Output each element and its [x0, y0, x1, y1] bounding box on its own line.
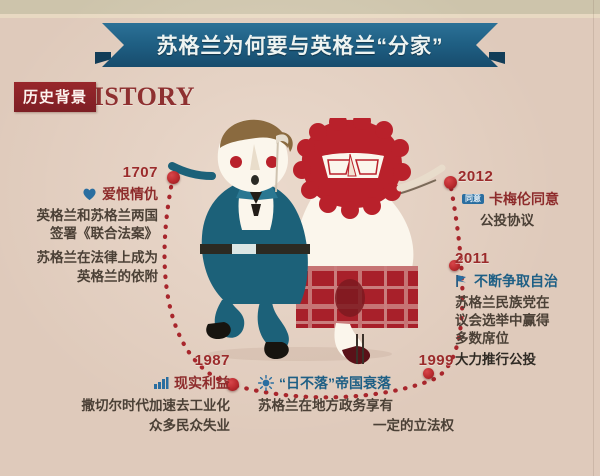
entry-body-line: 公投协议 — [480, 212, 594, 230]
entry-sub-line: 大力推行公投 — [455, 351, 597, 369]
year-label-1707: 1707 — [10, 164, 158, 181]
timeline-entry-1987: 1987 现实利益 撒切尔时代加速去工业化 众多民众失业 — [14, 352, 230, 435]
entry-sub-1999: 一定的立法权 — [258, 417, 454, 435]
year-label-2011: 2011 — [455, 250, 597, 267]
section-badge: 历史背景 — [14, 82, 96, 112]
entry-sub-line: 英格兰的依附 — [10, 268, 158, 286]
entry-body-line: 苏格兰在地方政务享有 — [258, 397, 454, 415]
section-header: 历史背景 — [14, 83, 96, 111]
entry-heading-1987: 现实利益 — [14, 373, 230, 393]
infographic-canvas: 苏格兰为何要与英格兰“分家” HISTORY 历史背景 — [0, 0, 600, 476]
timeline-node-1707[interactable] — [167, 171, 180, 184]
timeline-node-2012[interactable] — [444, 176, 457, 189]
year-label-1999: 1999 — [258, 352, 454, 369]
factory-icon — [153, 376, 169, 390]
entry-body-line: 英格兰和苏格兰两国 — [10, 207, 158, 225]
entry-sub-line: 苏格兰在法律上成为 — [10, 249, 158, 267]
entry-sub-1987: 众多民众失业 — [14, 417, 230, 435]
entry-body-1987: 撒切尔时代加速去工业化 — [14, 397, 230, 415]
entry-heading-1707: 爱恨情仇 — [10, 184, 158, 204]
timeline-entry-2012: 2012 同意 卡梅伦同意 公投协议 — [458, 168, 594, 230]
timeline-entry-1707: 1707 爱恨情仇 英格兰和苏格兰两国 签署《联合法案》 苏格兰在法律上成为 英… — [10, 164, 158, 286]
entry-body-2011: 苏格兰民族党在 议会选举中赢得 多数席位 — [455, 294, 597, 349]
entry-sub-line: 众多民众失业 — [14, 417, 230, 435]
entry-sub-1707: 苏格兰在法律上成为 英格兰的依附 — [10, 249, 158, 285]
entry-heading-2011: 不断争取自治 — [455, 271, 597, 291]
entry-heading-text-1707: 爱恨情仇 — [102, 184, 158, 204]
entry-sub-line: 一定的立法权 — [258, 417, 454, 435]
entry-heading-text-1999: “日不落”帝国衰落 — [279, 373, 391, 393]
agree-badge-icon: 同意 — [462, 194, 484, 205]
entry-body-1999: 苏格兰在地方政务享有 — [258, 397, 454, 415]
entry-body-line: 签署《联合法案》 — [10, 225, 158, 243]
illustration-two-figures — [150, 118, 450, 368]
entry-heading-text-2011: 不断争取自治 — [474, 271, 558, 291]
sun-icon — [258, 375, 274, 391]
flag-icon — [455, 274, 469, 288]
entry-body-2012: 公投协议 — [480, 212, 594, 230]
heart-icon — [82, 187, 97, 201]
year-label-2012: 2012 — [458, 168, 594, 185]
timeline-entry-1999: 1999 “日不落”帝国衰落 苏格兰在地方政务享有 一定的立法权 — [258, 352, 454, 435]
entry-body-line: 议会选举中赢得 — [455, 312, 597, 330]
entry-heading-text-1987: 现实利益 — [174, 373, 230, 393]
timeline-entry-2011: 2011 不断争取自治 苏格兰民族党在 议会选举中赢得 多数席位 大力推行公投 — [455, 250, 597, 369]
entry-sub-2011: 大力推行公投 — [455, 351, 597, 369]
entry-body-line: 苏格兰民族党在 — [455, 294, 597, 312]
year-label-1987: 1987 — [14, 352, 230, 369]
entry-heading-text-2012: 卡梅伦同意 — [489, 189, 559, 209]
entry-heading-2012: 同意 卡梅伦同意 — [462, 189, 594, 209]
entry-heading-1999: “日不落”帝国衰落 — [258, 373, 454, 393]
entry-body-1707: 英格兰和苏格兰两国 签署《联合法案》 — [10, 207, 158, 243]
entry-body-line: 撒切尔时代加速去工业化 — [14, 397, 230, 415]
entry-body-line: 多数席位 — [455, 330, 597, 348]
